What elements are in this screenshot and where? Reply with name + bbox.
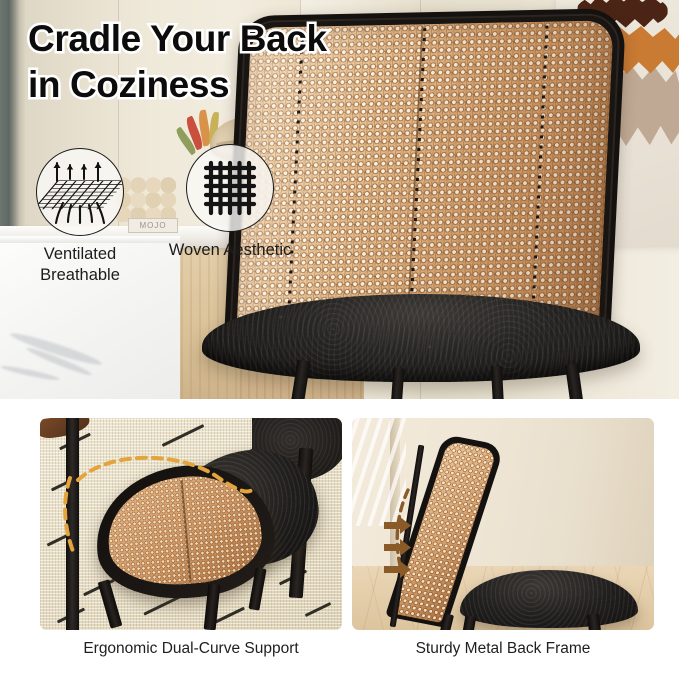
hero-photo: MOJO xyxy=(0,0,679,399)
feature-panel-metal-frame xyxy=(352,418,654,630)
panel-caption-ergonomic: Ergonomic Dual-Curve Support xyxy=(40,640,342,658)
feature-badge-ventilated: Ventilated Breathable xyxy=(36,148,124,236)
panel-caption-metal-frame: Sturdy Metal Back Frame xyxy=(352,640,654,658)
panel-gap xyxy=(0,399,679,418)
page-title: Cradle Your Back in Coziness xyxy=(28,16,327,108)
product-marketing-image: MOJO xyxy=(0,0,679,674)
light-streaks xyxy=(352,418,406,526)
woven-weave-icon xyxy=(186,144,274,232)
feature-badge-label: Woven Aesthetic xyxy=(145,240,315,261)
feature-panel-ergonomic xyxy=(40,418,342,630)
chair-leg-back xyxy=(587,613,601,630)
ventilation-mesh-icon xyxy=(36,148,124,236)
chair-leg-front xyxy=(463,615,477,630)
feature-badge-woven: Woven Aesthetic xyxy=(186,144,274,232)
decorative-bead-books xyxy=(116,176,176,222)
chair-leg-back-right xyxy=(491,366,504,399)
chair-leg-back-left xyxy=(391,368,405,399)
feature-badge-label: Ventilated Breathable xyxy=(0,244,165,286)
table-leg-post xyxy=(66,418,79,630)
book-label: MOJO xyxy=(128,218,178,233)
